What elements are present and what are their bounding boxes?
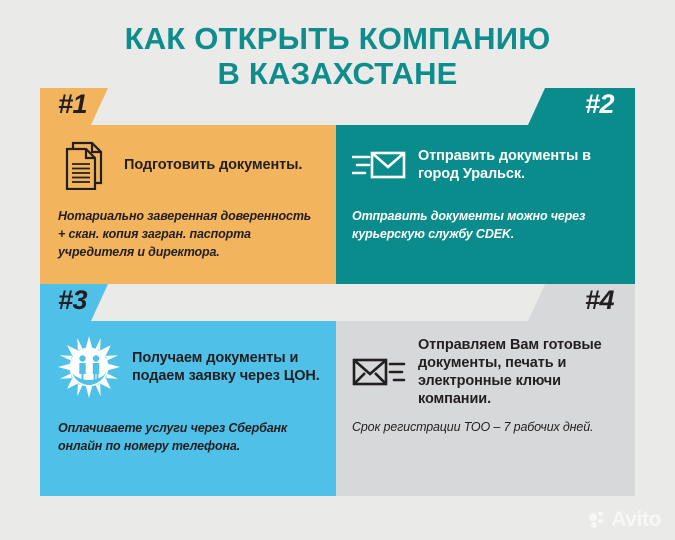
step-card-2: #2 Отправить документы в город Уральск.	[336, 88, 635, 284]
step-1-subtext: Нотариально заверенная доверенность + ск…	[58, 208, 320, 261]
step-2-headline: Отправить документы в город Уральск.	[418, 147, 613, 183]
avito-wordmark: Avito	[611, 509, 661, 530]
step-4-headline: Отправляем Вам готовые документы, печать…	[418, 336, 617, 409]
step-3-head-row: Получаем документы и подаем заявку через…	[58, 336, 320, 398]
avito-watermark: Avito	[589, 509, 661, 530]
step-1-head-row: Подготовить документы.	[58, 138, 320, 192]
envelope-send-icon	[352, 138, 406, 192]
step-1-headline: Подготовить документы.	[124, 156, 302, 174]
step-number-4: #4	[585, 285, 614, 316]
step-card-1-content: Подготовить документы. Нотариально завер…	[40, 138, 336, 261]
infographic-canvas: КАК ОТКРЫТЬ КОМПАНИЮ В КАЗАХСТАНЕ #1	[0, 0, 675, 540]
step-4-subtext: Срок регистрации ТОО – 7 рабочих дней.	[352, 419, 617, 437]
step-card-4-content: Отправляем Вам готовые документы, печать…	[336, 336, 635, 436]
title-line-1: КАК ОТКРЫТЬ КОМПАНИЮ	[0, 22, 675, 57]
avito-logo-icon	[589, 511, 606, 528]
step-3-headline: Получаем документы и подаем заявку через…	[132, 349, 320, 385]
step-2-head-row: Отправить документы в город Уральск.	[352, 138, 613, 192]
envelope-receive-icon	[352, 345, 406, 399]
documents-icon	[58, 138, 112, 192]
title-line-2: В КАЗАХСТАНЕ	[0, 57, 675, 92]
step-3-subtext: Оплачиваете услуги через Сбербанк онлайн…	[58, 420, 320, 456]
step-card-3-content: Получаем документы и подаем заявку через…	[40, 336, 336, 456]
step-card-1: #1	[40, 88, 336, 284]
step-number-2: #2	[585, 89, 614, 120]
step-card-4: #4 Отправляем Вам	[336, 284, 635, 496]
step-4-head-row: Отправляем Вам готовые документы, печать…	[352, 336, 617, 409]
step-number-3: #3	[58, 285, 87, 316]
step-card-3: #3	[40, 284, 336, 496]
step-card-2-content: Отправить документы в город Уральск. Отп…	[336, 138, 635, 244]
con-sun-family-icon	[58, 336, 120, 398]
step-2-subtext: Отправить документы можно через курьерск…	[352, 208, 613, 244]
step-number-1: #1	[58, 89, 87, 120]
page-title: КАК ОТКРЫТЬ КОМПАНИЮ В КАЗАХСТАНЕ	[0, 22, 675, 91]
